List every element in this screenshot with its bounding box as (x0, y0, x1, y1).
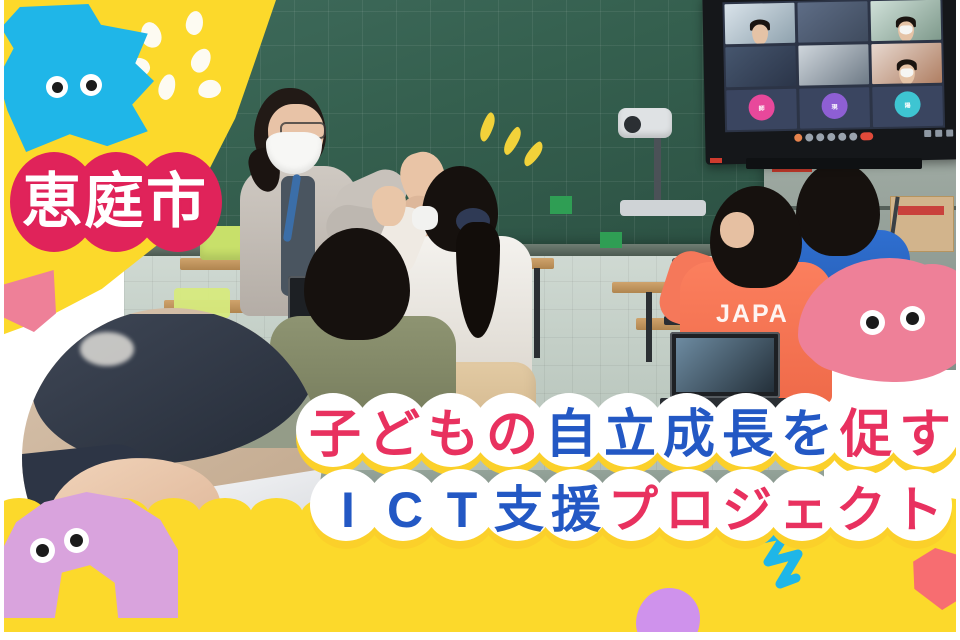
title-char: 促 (834, 398, 898, 472)
character-eye-icon (80, 74, 102, 96)
camera-lens-icon (624, 116, 641, 133)
title-char: も (421, 398, 485, 472)
green-marker (600, 232, 622, 248)
person-icon (935, 130, 942, 137)
title-glyph: ど (368, 409, 420, 461)
title-glyph: 立 (604, 409, 656, 461)
title-glyph: 子 (309, 409, 361, 461)
title-char: 自 (539, 398, 603, 472)
student-head (796, 162, 880, 256)
video-tile (797, 1, 868, 42)
title-char: ク (830, 474, 892, 546)
promo-banner: JAPA (0, 0, 960, 640)
display-stand (746, 158, 922, 169)
document-camera-base (620, 200, 706, 216)
leave-call-icon (860, 132, 873, 140)
title-char: す (893, 398, 956, 472)
desk-leg (534, 268, 540, 358)
title-glyph: T (447, 485, 478, 535)
title-glyph: ロ (665, 485, 715, 535)
title-char: 長 (716, 398, 780, 472)
share-icon (816, 133, 824, 141)
title-glyph: ェ (779, 485, 829, 535)
title-char: ェ (773, 474, 835, 546)
blue-blob-body (4, 4, 154, 152)
student-face-mask (412, 206, 438, 230)
title-char: ど (362, 398, 426, 472)
more-icon (849, 132, 857, 140)
title-glyph: 自 (545, 409, 597, 461)
video-tile (798, 44, 869, 85)
title-char: 子 (303, 398, 367, 472)
green-marker (550, 196, 572, 214)
title-glyph: 成 (663, 409, 715, 461)
box-label (898, 206, 944, 215)
inset-highlight (80, 332, 134, 366)
title-glyph: 支 (494, 485, 544, 535)
character-eye-icon (64, 528, 89, 553)
title-glyph: C (387, 485, 423, 535)
city-badge-glyph: 庭 (84, 172, 144, 232)
title-glyph: を (781, 409, 833, 461)
title-char: を (775, 398, 839, 472)
title-char: ジ (716, 474, 778, 546)
student-hand (720, 212, 754, 248)
title-glyph: 促 (840, 409, 892, 461)
title-glyph: ト (893, 485, 943, 535)
participants-icon (827, 133, 835, 141)
character-eye-icon (30, 538, 55, 563)
video-tile (871, 43, 942, 84)
city-badge: 恵 庭 市 (14, 150, 200, 254)
title-glyph: I (341, 485, 355, 535)
title-glyph: の (486, 409, 538, 461)
title-glyph: も (427, 409, 479, 461)
wall-display: 師 現 陽 (702, 0, 956, 165)
participant-face (752, 24, 768, 44)
video-tile (725, 46, 796, 87)
city-badge-glyph: 恵 (22, 172, 82, 232)
power-led-icon (710, 158, 722, 163)
title-line-1: 子どもの自立成長を促す (236, 398, 956, 472)
title-char: ロ (659, 474, 721, 546)
title-char: 立 (598, 398, 662, 472)
blue-blob-character (4, 4, 154, 152)
laptop-screen-content (676, 338, 774, 392)
title-glyph: 援 (551, 485, 601, 535)
title-glyph: ク (836, 485, 886, 535)
grid-icon (946, 129, 953, 136)
pink-blob-character (798, 258, 956, 382)
title-line-2: ICT支援プロジェクト (236, 474, 956, 546)
chat-icon (838, 133, 846, 141)
city-badge-glyph: 市 (146, 172, 206, 232)
title-char: の (480, 398, 544, 472)
character-eye-icon (860, 310, 885, 335)
city-badge-char: 市 (138, 152, 214, 252)
video-tile (724, 3, 795, 44)
video-conference-grid: 師 現 陽 (722, 0, 945, 132)
title-char: ト (887, 474, 949, 546)
purple-blob-character (4, 492, 178, 618)
character-eye-icon (46, 76, 68, 98)
title-glyph: 長 (722, 409, 774, 461)
camera-icon (805, 133, 813, 141)
video-tile (870, 0, 941, 41)
title-char: 成 (657, 398, 721, 472)
video-tile-avatar: 陽 (872, 86, 943, 127)
title-glyph: プ (608, 485, 658, 535)
video-tile-avatar: 師 (726, 89, 797, 130)
title-char: 援 (545, 474, 607, 546)
mic-icon (794, 134, 802, 142)
student-hand (372, 186, 406, 226)
display-status-icons (924, 129, 953, 137)
banner-title: 子どもの自立成長を促す ICT支援プロジェクト (236, 398, 956, 546)
participant-avatar: 陽 (894, 92, 921, 119)
title-char: プ (602, 474, 664, 546)
video-tile-avatar: 現 (799, 87, 870, 128)
desk-leg (646, 292, 652, 362)
title-glyph: ジ (722, 485, 772, 535)
title-char: 支 (488, 474, 550, 546)
gear-icon (924, 130, 931, 137)
participant-avatar: 現 (821, 93, 848, 120)
banner-artwork: JAPA (4, 0, 956, 632)
participant-avatar: 師 (748, 95, 775, 122)
title-glyph: す (899, 409, 951, 461)
character-eye-icon (900, 306, 925, 331)
